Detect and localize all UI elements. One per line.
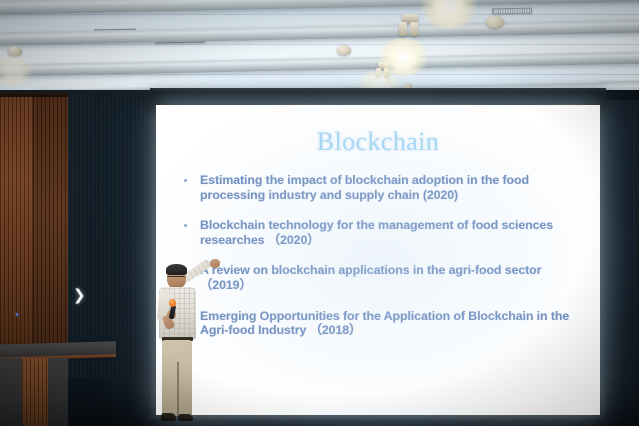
- bullet-text: Estimating the impact of blockchain adop…: [200, 173, 586, 202]
- air-vent-icon: [492, 8, 532, 15]
- lectern-wood-front: [22, 358, 50, 426]
- ceiling-light-fixture: [410, 22, 418, 36]
- spotlight-glare: [0, 56, 34, 86]
- presenter-shoe: [161, 413, 176, 421]
- wood-wall-panel: [33, 96, 69, 384]
- bullet-text: A review on blockchain applications in t…: [200, 263, 586, 292]
- microphone-head-icon: [169, 299, 176, 307]
- ceiling-speaker-icon: [486, 16, 504, 28]
- slide-bullet-list: Estimating the impact of blockchain adop…: [180, 173, 586, 354]
- next-slide-chevron-icon[interactable]: ❯: [73, 288, 86, 303]
- projection-screen: Blockchain Estimating the impact of bloc…: [156, 105, 600, 415]
- wood-wall-panel: [0, 92, 36, 382]
- list-item: Blockchain technology for the management…: [180, 218, 586, 247]
- bullet-text: Blockchain technology for the management…: [200, 218, 586, 247]
- ceiling: [0, 0, 639, 96]
- presenter-hand: [210, 259, 220, 268]
- bullet-dot-icon: [184, 179, 187, 182]
- presenter-hair: [166, 264, 187, 275]
- list-item: A review on blockchain applications in t…: [180, 263, 586, 292]
- slide-title: Blockchain: [156, 127, 600, 157]
- ceiling-light-fixture: [399, 22, 407, 36]
- ceiling-beam: [0, 0, 639, 15]
- ceiling-speaker-icon: [8, 46, 22, 56]
- lectern-body: [0, 358, 24, 426]
- presentation-slide: Blockchain Estimating the impact of bloc…: [156, 105, 600, 415]
- glasses-icon: [167, 276, 185, 280]
- wall-trim: [0, 92, 70, 97]
- presenter-trouser-seam: [177, 362, 179, 416]
- presenter-shoe: [178, 414, 193, 421]
- ceiling-beam: [0, 19, 639, 46]
- ceiling-speaker-icon: [337, 45, 351, 55]
- lectern-body: [48, 358, 68, 426]
- lecture-hall-scene: Blockchain Estimating the impact of bloc…: [0, 0, 639, 426]
- list-item: Emerging Opportunities for the Applicati…: [180, 309, 586, 338]
- presenter: [150, 258, 212, 426]
- list-item: Estimating the impact of blockchain adop…: [180, 173, 586, 202]
- lectern-indicator-led: [16, 313, 18, 316]
- bullet-dot-icon: [184, 224, 187, 227]
- bullet-text: Emerging Opportunities for the Applicati…: [200, 309, 586, 338]
